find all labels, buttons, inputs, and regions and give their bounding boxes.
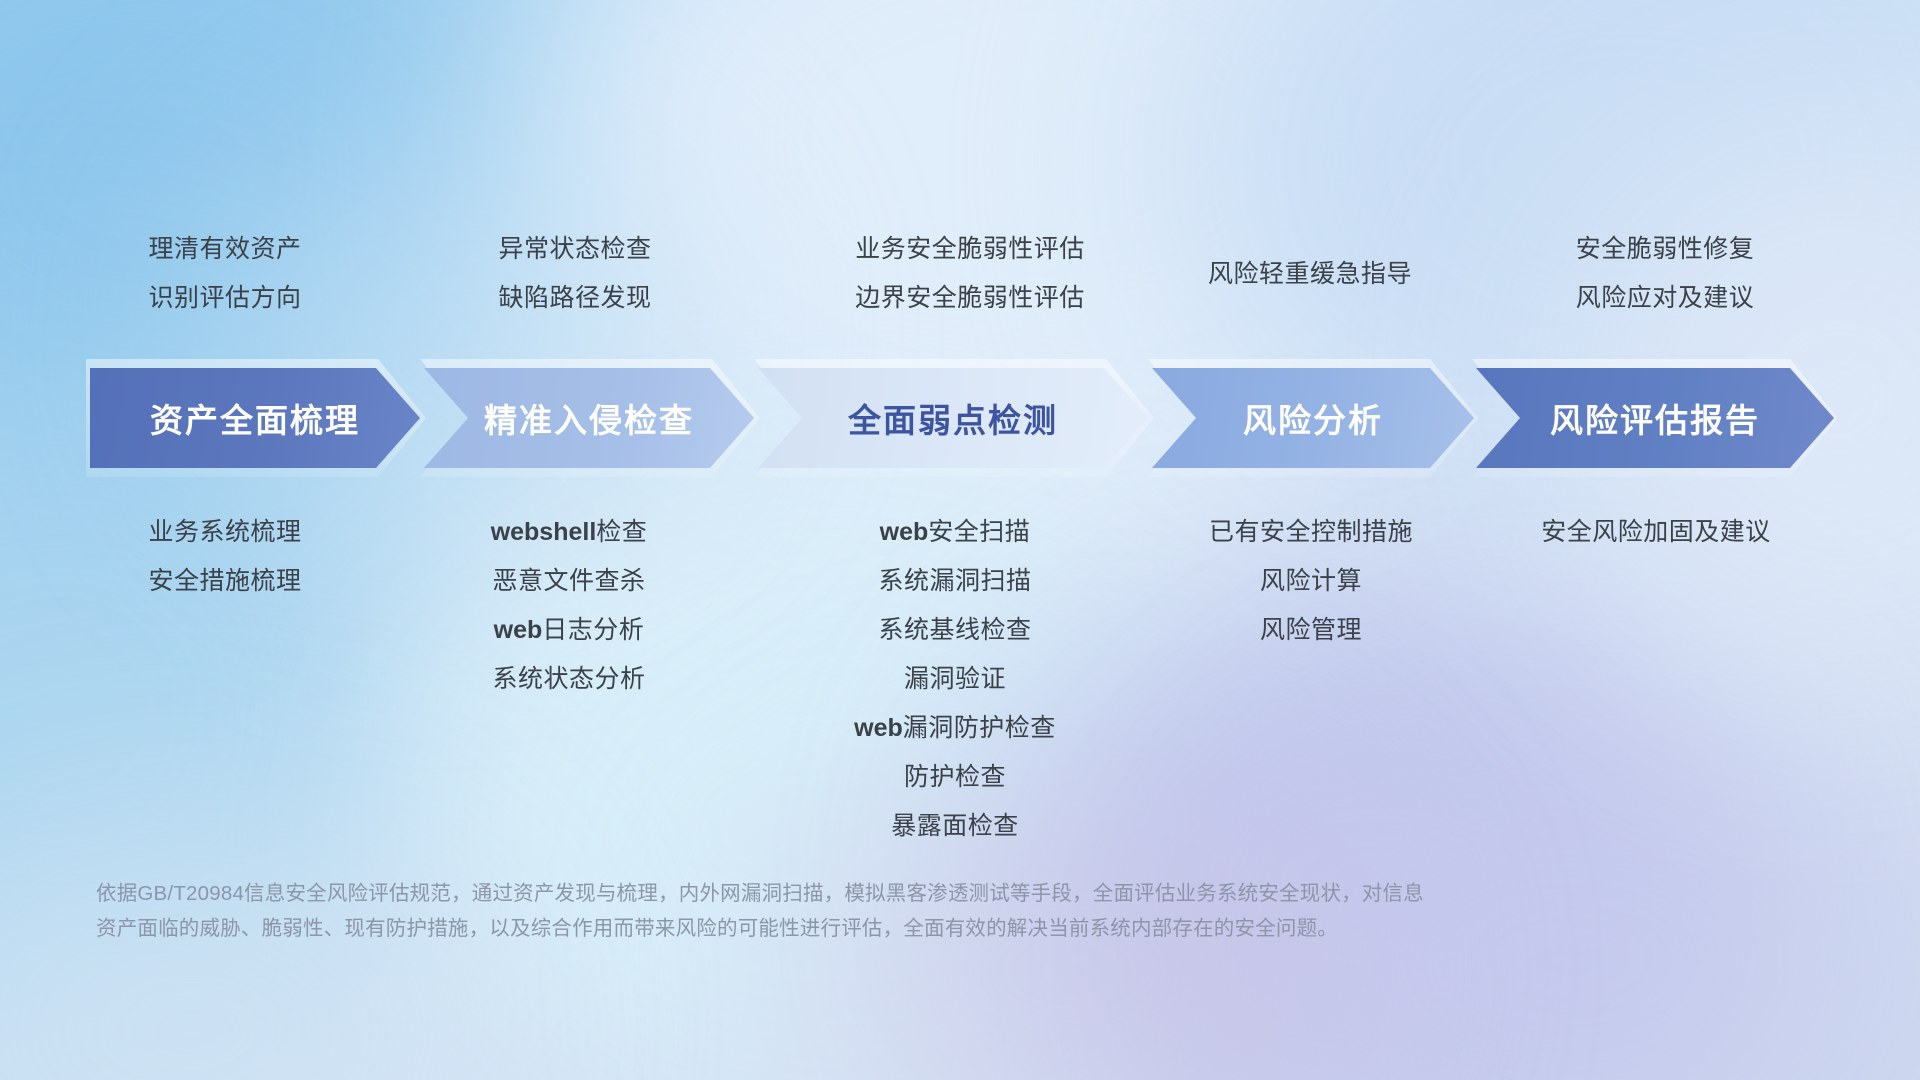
background-wash-11 bbox=[200, 120, 720, 540]
bottom-item-text: 日志分析 bbox=[542, 616, 644, 644]
stage-arrow-label: 精准入侵检查 bbox=[484, 394, 694, 442]
bottom-item-text: 漏洞验证 bbox=[904, 665, 1006, 693]
stage-top-items-weakness-detection: 业务安全脆弱性评估 边界安全脆弱性评估 bbox=[790, 225, 1150, 323]
stage-arrow-weakness-detection[interactable]: 全面弱点检测 bbox=[758, 368, 1148, 468]
stage-bottom-items-intrusion-check: webshell检查 恶意文件查杀 web日志分析 系统状态分析 bbox=[424, 508, 714, 704]
top-item: 异常状态检查 bbox=[440, 225, 710, 274]
bottom-item: 业务系统梳理 bbox=[90, 508, 360, 557]
stage-top-items-intrusion-check: 异常状态检查 缺陷路径发现 bbox=[440, 225, 710, 323]
top-item: 缺陷路径发现 bbox=[440, 274, 710, 323]
bottom-item: 系统基线检查 bbox=[790, 606, 1120, 655]
bottom-item-latin: web bbox=[494, 616, 543, 644]
bottom-item: 暴露面检查 bbox=[790, 802, 1120, 851]
slide-canvas: 理清有效资产 识别评估方向 异常状态检查 缺陷路径发现 业务安全脆弱性评估 边界… bbox=[0, 0, 1920, 1080]
top-item: 安全脆弱性修复 bbox=[1500, 225, 1830, 274]
stage-arrow-risk-report[interactable]: 风险评估报告 bbox=[1476, 368, 1834, 468]
bottom-item-text: 系统基线检查 bbox=[878, 616, 1031, 644]
bottom-item-text: 漏洞防护检查 bbox=[903, 714, 1056, 742]
bottom-item: web安全扫描 bbox=[790, 508, 1120, 557]
stage-bottom-items-risk-report: 安全风险加固及建议 bbox=[1476, 508, 1836, 557]
stage-arrow-intrusion-check[interactable]: 精准入侵检查 bbox=[424, 368, 754, 468]
stage-arrow-label: 资产全面梳理 bbox=[150, 394, 360, 442]
bottom-item: 系统漏洞扫描 bbox=[790, 557, 1120, 606]
bottom-item-latin: web bbox=[880, 518, 929, 546]
bottom-item: web日志分析 bbox=[424, 606, 714, 655]
footer-line-1: 依据GB/T20984信息安全风险评估规范，通过资产发现与梳理，内外网漏洞扫描，… bbox=[96, 876, 1736, 911]
top-item: 边界安全脆弱性评估 bbox=[790, 274, 1150, 323]
bottom-item: 系统状态分析 bbox=[424, 655, 714, 704]
bottom-item: 风险管理 bbox=[1150, 606, 1472, 655]
stage-arrow-risk-analysis[interactable]: 风险分析 bbox=[1152, 368, 1474, 468]
top-item: 识别评估方向 bbox=[90, 274, 360, 323]
bottom-item-latin: web bbox=[854, 714, 903, 742]
bottom-item-text: 安全风险加固及建议 bbox=[1541, 518, 1771, 546]
stage-arrow-asset-inventory[interactable]: 资产全面梳理 bbox=[90, 368, 420, 468]
process-arrow-band: 资产全面梳理 精准入侵检查 全面弱点检测 风险分析 风险评估报告 bbox=[0, 368, 1920, 468]
bottom-item-text: 恶意文件查杀 bbox=[492, 567, 645, 595]
bottom-item-text: 安全措施梳理 bbox=[148, 567, 301, 595]
stage-arrow-label: 风险分析 bbox=[1243, 394, 1383, 442]
bottom-item-text: 系统漏洞扫描 bbox=[878, 567, 1031, 595]
stage-bottom-items-risk-analysis: 已有安全控制措施 风险计算 风险管理 bbox=[1150, 508, 1472, 655]
top-item: 风险轻重缓急指导 bbox=[1150, 250, 1470, 299]
bottom-item-text: 暴露面检查 bbox=[891, 812, 1019, 840]
stage-arrow-label: 风险评估报告 bbox=[1550, 394, 1760, 442]
bottom-item: web漏洞防护检查 bbox=[790, 704, 1120, 753]
footer-line-2: 资产面临的威胁、脆弱性、现有防护措施，以及综合作用而带来风险的可能性进行评估，全… bbox=[96, 911, 1736, 946]
top-item: 理清有效资产 bbox=[90, 225, 360, 274]
stage-top-items-asset-inventory: 理清有效资产 识别评估方向 bbox=[90, 225, 360, 323]
stage-arrow-label: 全面弱点检测 bbox=[848, 394, 1058, 442]
footer-description: 依据GB/T20984信息安全风险评估规范，通过资产发现与梳理，内外网漏洞扫描，… bbox=[96, 876, 1736, 946]
top-item: 风险应对及建议 bbox=[1500, 274, 1830, 323]
stage-bottom-items-asset-inventory: 业务系统梳理 安全措施梳理 bbox=[90, 508, 360, 606]
bottom-item-latin: webshell bbox=[491, 518, 597, 546]
bottom-item: webshell检查 bbox=[424, 508, 714, 557]
stage-bottom-items-weakness-detection: web安全扫描 系统漏洞扫描 系统基线检查 漏洞验证 web漏洞防护检查 防护检… bbox=[790, 508, 1120, 851]
bottom-item-text: 已有安全控制措施 bbox=[1209, 518, 1413, 546]
bottom-item: 恶意文件查杀 bbox=[424, 557, 714, 606]
bottom-item: 安全风险加固及建议 bbox=[1476, 508, 1836, 557]
bottom-item-text: 防护检查 bbox=[904, 763, 1006, 791]
bottom-item-text: 风险计算 bbox=[1260, 567, 1362, 595]
background-wash-9 bbox=[0, 820, 500, 1080]
bottom-item-text: 检查 bbox=[596, 518, 647, 546]
bottom-item: 漏洞验证 bbox=[790, 655, 1120, 704]
bottom-item-text: 系统状态分析 bbox=[492, 665, 645, 693]
top-item: 业务安全脆弱性评估 bbox=[790, 225, 1150, 274]
bottom-item-text: 风险管理 bbox=[1260, 616, 1362, 644]
bottom-item: 已有安全控制措施 bbox=[1150, 508, 1472, 557]
bottom-item: 安全措施梳理 bbox=[90, 557, 360, 606]
bottom-item-text: 业务系统梳理 bbox=[148, 518, 301, 546]
stage-top-items-risk-report: 安全脆弱性修复 风险应对及建议 bbox=[1500, 225, 1830, 323]
bottom-item-text: 安全扫描 bbox=[928, 518, 1030, 546]
bottom-item: 风险计算 bbox=[1150, 557, 1472, 606]
bottom-item: 防护检查 bbox=[790, 753, 1120, 802]
stage-top-items-risk-analysis: 风险轻重缓急指导 bbox=[1150, 250, 1470, 299]
